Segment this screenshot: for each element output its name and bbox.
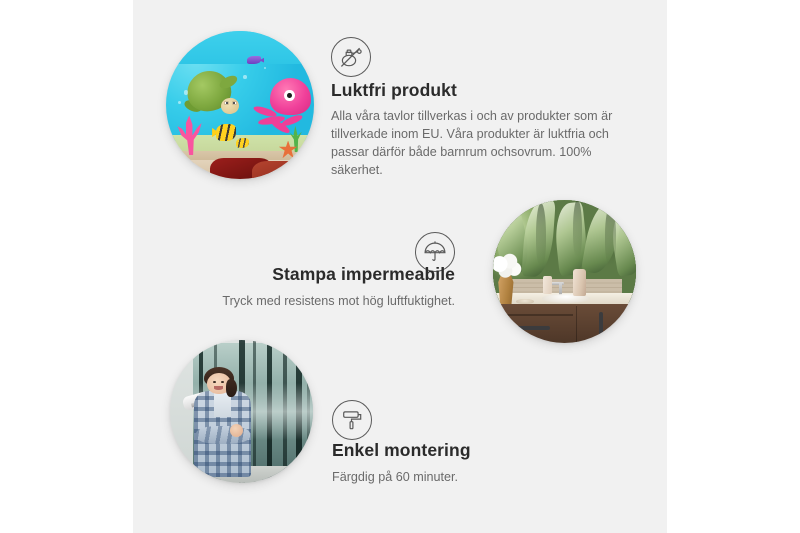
feature-title: Enkel montering (332, 440, 612, 461)
feature-description: Färgdig på 60 minuter. (332, 469, 612, 487)
paint-roller-icon (332, 400, 372, 440)
feature-title: Luktfri produkt (331, 80, 623, 101)
feature-text-waterproof-print: Stampa impermeabile Tryck med resistens … (170, 264, 455, 311)
installation-scene-art (170, 340, 313, 483)
feature-title: Stampa impermeabile (170, 264, 455, 285)
feature-description: Alla våra tavlor tillverkas i och av pro… (331, 108, 623, 180)
bathroom-tropical-wallpaper-photo (493, 200, 636, 343)
bathroom-scene-art (493, 200, 636, 343)
woman-with-paint-roller-photo (170, 340, 313, 483)
no-fragrance-icon (331, 37, 371, 77)
feature-text-odourless-product: Luktfri produkt Alla våra tavlor tillver… (331, 80, 623, 180)
underwater-scene-art (166, 31, 314, 179)
feature-text-easy-installation: Enkel montering Färgdig på 60 minuter. (332, 440, 612, 487)
feature-description: Tryck med resistens mot hög luftfuktighe… (170, 293, 455, 311)
underwater-kids-mural-photo (166, 31, 314, 179)
screenshot-root: Luktfri produkt Alla våra tavlor tillver… (0, 0, 800, 533)
